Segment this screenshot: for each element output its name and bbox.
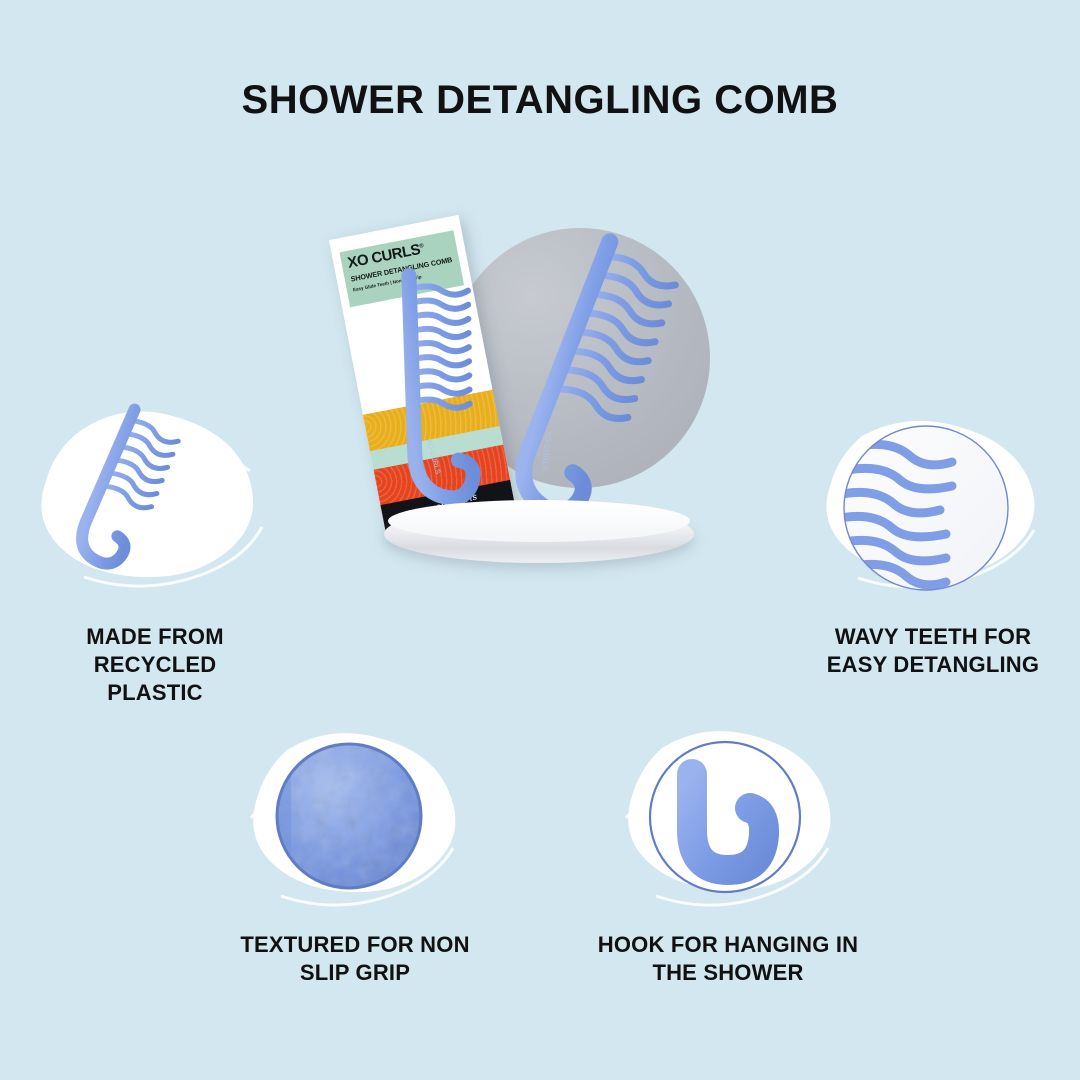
feature-textured-grip: TEXTURED FOR NON SLIP GRIP [245, 718, 465, 928]
feature-label-textured: TEXTURED FOR NON SLIP GRIP [185, 931, 525, 987]
page-title: SHOWER DETANGLING COMB [0, 78, 1080, 123]
registered-mark: ® [419, 243, 424, 250]
hook-closeup-icon [646, 738, 804, 896]
feature-made-from-recycled-plastic: MADE FROM RECYCLED PLASTIC [40, 395, 270, 610]
feature-label-recycled: MADE FROM RECYCLED PLASTIC [0, 623, 325, 707]
infographic-canvas: SHOWER DETANGLING COMB XO CURLS® SHOWER … [0, 0, 1080, 1080]
feature-hook-for-hanging: HOOK FOR HANGING IN THE SHOWER [618, 718, 838, 928]
feature-label-hook: HOOK FOR HANGING IN THE SHOWER [558, 931, 898, 987]
feature-label-wavy: WAVY TEETH FOR EASY DETANGLING [763, 623, 1080, 679]
textured-grip-closeup-icon [273, 740, 425, 892]
wavy-teeth-closeup-icon [840, 422, 1012, 594]
comb-full-view-icon [62, 403, 212, 603]
product-pedestal-top [388, 500, 690, 542]
hero-product-scene: XO CURLS® SHOWER DETANGLING COMB Easy Gl… [330, 200, 750, 580]
comb-emboss-label: XO CURLS [425, 439, 441, 476]
feature-wavy-teeth: WAVY TEETH FOR EASY DETANGLING [818, 408, 1048, 608]
